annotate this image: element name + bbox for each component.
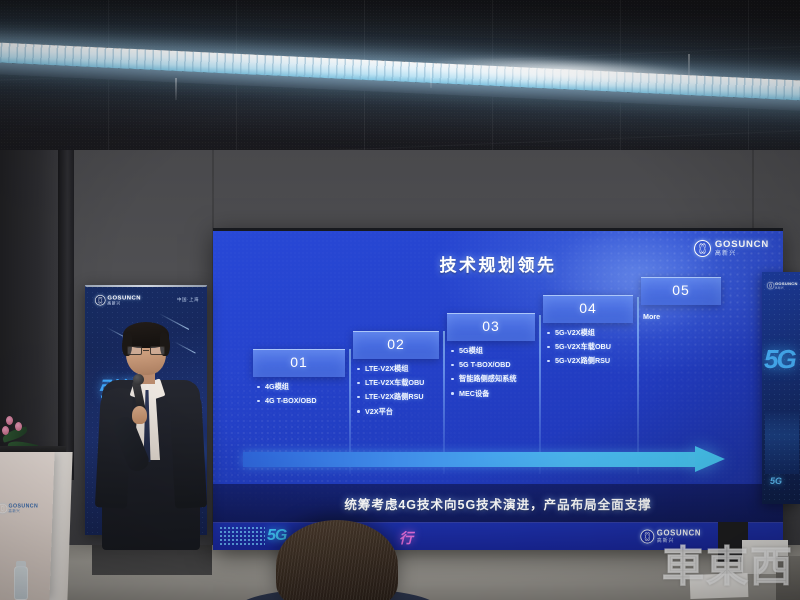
glasses-lens-left xyxy=(127,346,142,355)
presentation-screen[interactable]: 技术规划领先 GOSUNCN 高新兴 01 4G模组 xyxy=(213,228,783,550)
step-badge-01: 01 xyxy=(253,349,345,377)
step-list-item: 5G-V2X路侧RSU xyxy=(545,357,633,364)
slide-logo-en: GOSUNCN xyxy=(715,240,769,250)
step-item-list-04: 5G-V2X模组 5G-V2X车载OBU 5G-V2X路侧RSU xyxy=(543,329,633,365)
step-more-label: More xyxy=(641,312,721,321)
step-list-item: 5G-V2X车载OBU xyxy=(545,343,633,350)
speaker-person xyxy=(96,318,206,550)
banner-right-logo: GOSUNCN 高新兴 xyxy=(767,282,798,289)
light-hanger xyxy=(430,66,432,88)
step-list-item: 5G模组 xyxy=(449,347,535,354)
step-badge-02: 02 xyxy=(353,331,439,359)
slide-logo: GOSUNCN 高新兴 xyxy=(694,240,769,257)
flower xyxy=(2,426,9,435)
step-list-item: V2X平台 xyxy=(355,408,439,415)
step-card-05[interactable]: 05 More xyxy=(641,277,721,321)
banner-left-logo: GOSUNCN 高新兴 xyxy=(95,295,141,306)
slide-background: 技术规划领先 GOSUNCN 高新兴 01 4G模组 xyxy=(213,231,783,550)
strip-dot-pattern xyxy=(219,526,265,547)
globe-icon xyxy=(767,282,774,289)
speaker-shoulder-right xyxy=(169,387,207,509)
banner-left-place: 中国·上海 xyxy=(177,297,199,303)
podium-logo-text: GOSUNCN 高新兴 xyxy=(8,504,38,513)
city-skyline-graphic xyxy=(765,410,799,474)
strip-tail-text: 行 xyxy=(399,528,413,548)
slide-logo-cn: 高新兴 xyxy=(715,251,769,257)
step-item-list-02: LTE-V2X模组 LTE-V2X车载OBU LTE-V2X路侧RSU V2X平… xyxy=(353,365,439,415)
step-item-list-01: 4G模组 4G T-BOX/OBD xyxy=(253,383,345,404)
step-list-item: MEC设备 xyxy=(449,390,535,397)
step-badge-04: 04 xyxy=(543,295,633,323)
audience-head xyxy=(276,520,398,600)
banner-top-rail xyxy=(85,285,207,287)
podium-logo-en: GOSUNCN xyxy=(8,504,38,509)
slide-caption: 统筹考虑4G技术向5G技术演进，产品布局全面支撑 xyxy=(344,494,651,513)
step-card-04[interactable]: 04 5G-V2X模组 5G-V2X车载OBU 5G-V2X路侧RSU xyxy=(543,295,633,372)
podium-logo-cn: 高新兴 xyxy=(8,510,38,513)
banner-right-logo-en: GOSUNCN xyxy=(775,282,798,286)
glasses-icon xyxy=(126,346,166,355)
flower xyxy=(15,422,22,431)
step-list-item: LTE-V2X模组 xyxy=(355,365,439,372)
step-list-item: 5G T-BOX/OBD xyxy=(449,361,535,368)
ceiling xyxy=(0,0,800,168)
light-hanger xyxy=(175,78,177,100)
microphone-head-icon xyxy=(133,374,144,385)
banner-right-logo-text: GOSUNCN 高新兴 xyxy=(775,282,798,289)
banner-right-headline: 5G xyxy=(764,344,795,375)
banner-right-logo-cn: 高新兴 xyxy=(775,287,798,290)
step-card-03[interactable]: 03 5G模组 5G T-BOX/OBD 智能路侧感知系统 MEC设备 xyxy=(447,313,535,404)
photo-scene: 技术规划领先 GOSUNCN 高新兴 01 4G模组 xyxy=(0,0,800,600)
audience-hair-texture xyxy=(276,520,398,600)
globe-icon xyxy=(694,240,711,257)
step-list-item: LTE-V2X路侧RSU xyxy=(355,393,439,400)
banner-left-logo-text: GOSUNCN 高新兴 xyxy=(107,295,141,306)
step-list-item: 4G T-BOX/OBD xyxy=(255,397,345,404)
banner-left-logo-cn: 高新兴 xyxy=(107,302,141,306)
step-number: 05 xyxy=(672,282,690,298)
right-arrow-icon xyxy=(243,452,698,467)
flower xyxy=(6,416,13,425)
step-badge-03: 03 xyxy=(447,313,535,341)
wall-column xyxy=(58,150,74,480)
step-number: 04 xyxy=(579,300,597,316)
step-list-item: 智能路侧感知系统 xyxy=(449,375,535,382)
water-bottle xyxy=(14,566,28,600)
step-list-item: 4G模组 xyxy=(255,383,345,390)
speaker-hand xyxy=(132,406,147,424)
right-arrow-head-icon xyxy=(695,446,725,472)
banner-right-small-text: 5G xyxy=(770,476,782,486)
step-list-item: LTE-V2X车载OBU xyxy=(355,379,439,386)
podium-logo: GOSUNCN 高新兴 xyxy=(0,504,38,513)
watermark: 車東西 xyxy=(662,533,794,594)
step-card-01[interactable]: 01 4G模组 4G T-BOX/OBD xyxy=(253,349,345,411)
banner-left-logo-en: GOSUNCN xyxy=(107,295,141,301)
globe-icon xyxy=(0,504,7,513)
glasses-bridge xyxy=(143,350,149,351)
progress-arrow xyxy=(243,446,743,472)
glasses-lens-right xyxy=(150,346,165,355)
step-badge-05: 05 xyxy=(641,277,721,305)
slide-caption-bar: 统筹考虑4G技术向5G技术演进，产品布局全面支撑 xyxy=(213,484,783,522)
step-number: 02 xyxy=(387,336,405,352)
step-card-02[interactable]: 02 LTE-V2X模组 LTE-V2X车载OBU LTE-V2X路侧RSU V… xyxy=(353,331,439,422)
step-item-list-03: 5G模组 5G T-BOX/OBD 智能路侧感知系统 MEC设备 xyxy=(447,347,535,397)
step-number: 01 xyxy=(290,354,308,370)
globe-icon xyxy=(95,295,106,306)
slide-logo-text: GOSUNCN 高新兴 xyxy=(715,240,769,257)
step-list-item: 5G-V2X模组 xyxy=(545,329,633,336)
globe-icon xyxy=(640,530,654,544)
step-number: 03 xyxy=(482,318,500,334)
right-banner: GOSUNCN 高新兴 5G 5G xyxy=(762,272,800,504)
light-hanger xyxy=(688,54,690,76)
